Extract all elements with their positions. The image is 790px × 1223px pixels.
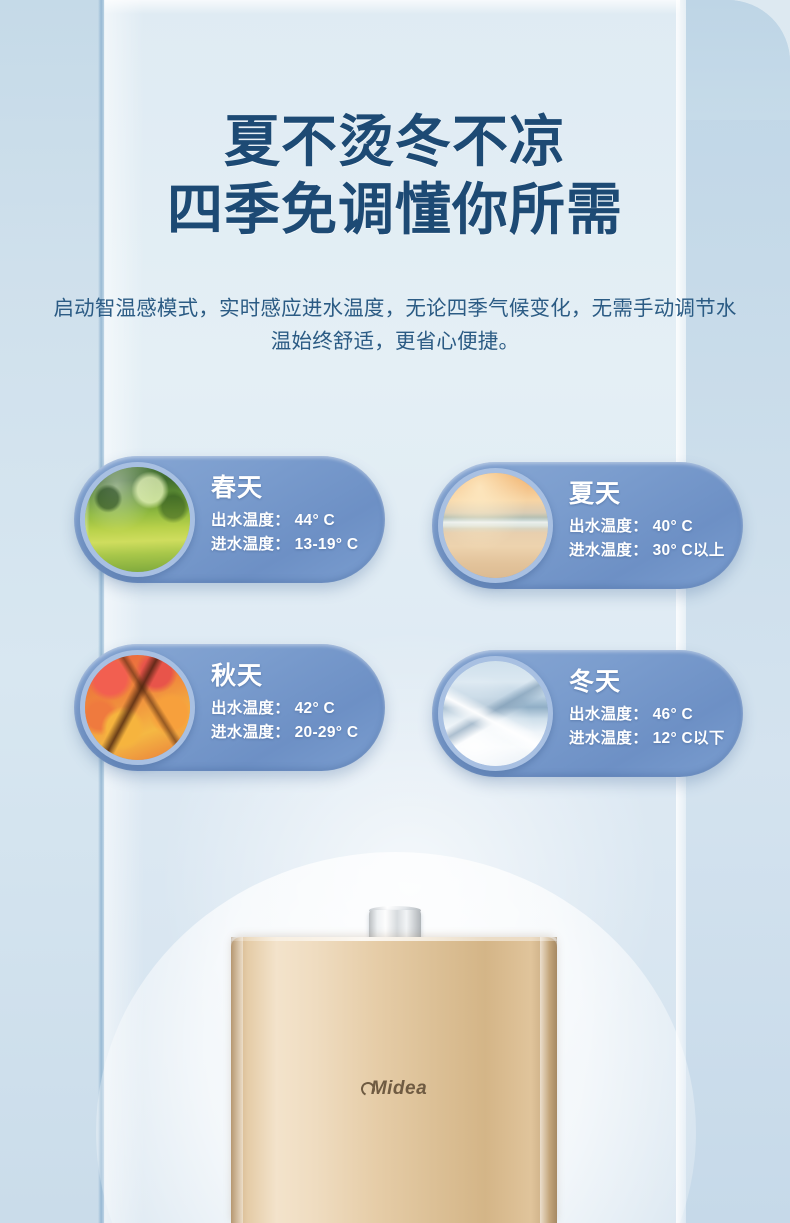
season-thumbnail-spring (80, 462, 195, 577)
season-card-summer[interactable]: 夏天 出水温度： 40° C 进水温度： 30° C以上 (432, 462, 743, 589)
heater-top-edge (231, 937, 557, 941)
outlet-temperature: 出水温度： 44° C (211, 509, 373, 533)
brand-name: Midea (371, 1078, 427, 1099)
page-title-line-2: 四季免调懂你所需 (0, 176, 790, 244)
outlet-temperature: 出水温度： 46° C (569, 703, 731, 727)
background-top-sheen (104, 0, 680, 14)
season-name: 秋天 (211, 661, 373, 692)
page-subtitle: 启动智温感模式，实时感应进水温度，无论四季气候变化，无需手动调节水温始终舒适，更… (45, 292, 745, 358)
season-name: 冬天 (569, 667, 731, 698)
winter-snow-mountain-image (443, 661, 548, 766)
page-title: 夏不烫冬不凉 四季免调懂你所需 (0, 108, 790, 244)
season-card-winter[interactable]: 冬天 出水温度： 46° C 进水温度： 12° C以下 (432, 650, 743, 777)
season-card-body: 秋天 出水温度： 42° C 进水温度： 20-29° C (211, 661, 373, 745)
autumn-maple-image (85, 655, 190, 760)
season-card-spring[interactable]: 春天 出水温度： 44° C 进水温度： 13-19° C (74, 456, 385, 583)
inlet-temperature: 进水温度： 12° C以下 (569, 727, 731, 751)
season-card-autumn[interactable]: 秋天 出水温度： 42° C 进水温度： 20-29° C (74, 644, 385, 771)
season-thumbnail-winter (438, 656, 553, 771)
outlet-temperature: 出水温度： 42° C (211, 697, 373, 721)
season-name: 春天 (211, 473, 373, 504)
season-card-grid: 春天 出水温度： 44° C 进水温度： 13-19° C 夏天 出水温度： 4… (0, 448, 790, 788)
season-thumbnail-autumn (80, 650, 195, 765)
product-image-gas-water-heater: Midea (0, 890, 790, 1223)
spring-forest-image (85, 467, 190, 572)
season-card-body: 夏天 出水温度： 40° C 进水温度： 30° C以上 (569, 479, 731, 563)
season-card-body: 冬天 出水温度： 46° C 进水温度： 12° C以下 (569, 667, 731, 751)
season-name: 夏天 (569, 479, 731, 510)
summer-beach-image (443, 473, 548, 578)
inlet-temperature: 进水温度： 30° C以上 (569, 539, 731, 563)
season-thumbnail-summer (438, 468, 553, 583)
outlet-temperature: 出水温度： 40° C (569, 515, 731, 539)
inlet-temperature: 进水温度： 13-19° C (211, 533, 373, 557)
brand-logo: Midea (231, 1078, 557, 1100)
season-card-body: 春天 出水温度： 44° C 进水温度： 13-19° C (211, 473, 373, 557)
promo-page: 夏不烫冬不凉 四季免调懂你所需 启动智温感模式，实时感应进水温度，无论四季气候变… (0, 0, 790, 1223)
page-title-line-1: 夏不烫冬不凉 (0, 108, 790, 176)
inlet-temperature: 进水温度： 20-29° C (211, 721, 373, 745)
